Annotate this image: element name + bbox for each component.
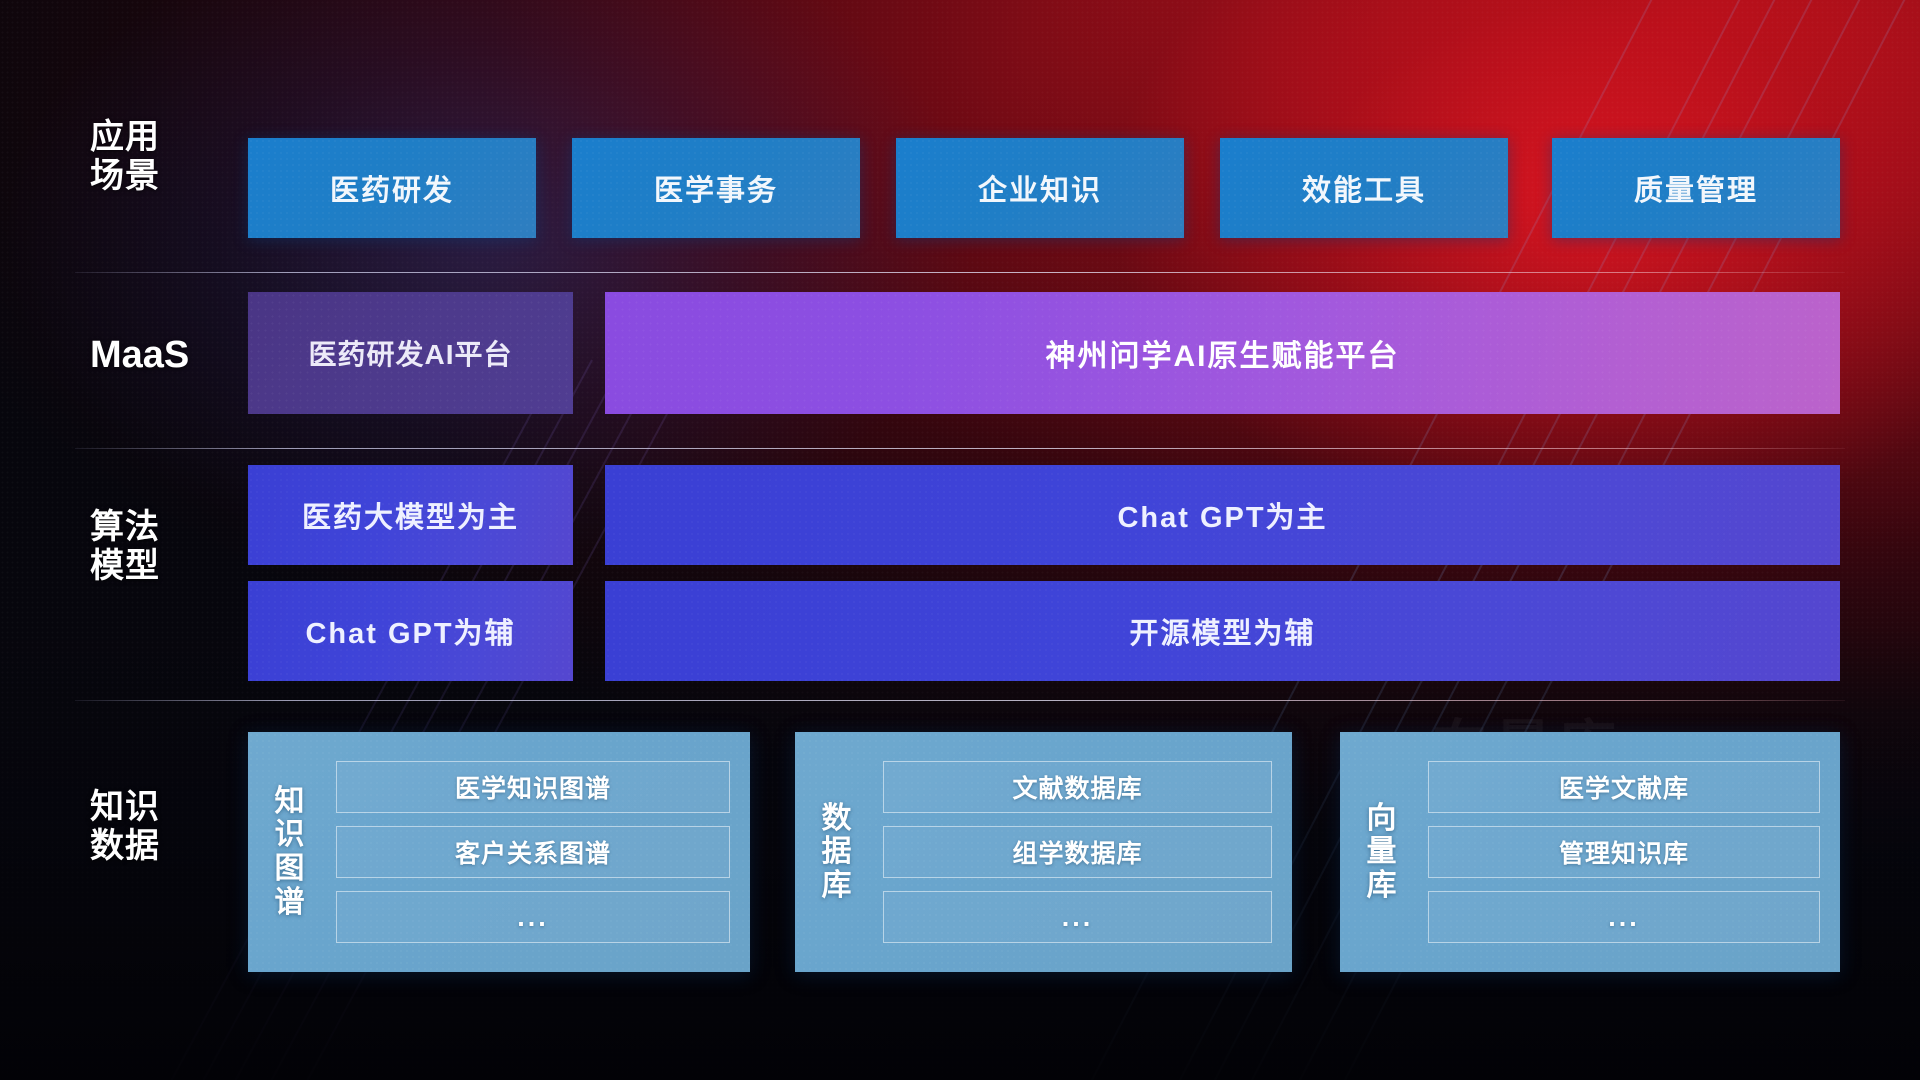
app-scenario-box-4[interactable]: 效能工具 bbox=[1220, 138, 1508, 238]
knowledge-item-2-3[interactable]: ... bbox=[883, 891, 1272, 943]
row-label-algorithm-models: 算法 模型 bbox=[90, 508, 240, 587]
app-scenario-box-5[interactable]: 质量管理 bbox=[1552, 138, 1840, 238]
divider-3 bbox=[75, 700, 1845, 701]
row-label-maas-text: MaaS bbox=[90, 333, 240, 377]
algo-model-box-left-secondary[interactable]: Chat GPT为辅 bbox=[248, 581, 573, 681]
knowledge-panel-database[interactable]: 数据库 文献数据库 组学数据库 ... bbox=[795, 732, 1292, 972]
knowledge-panel-knowledge-graph[interactable]: 知识图谱 医学知识图谱 客户关系图谱 ... bbox=[248, 732, 750, 972]
knowledge-item-1-2[interactable]: 客户关系图谱 bbox=[336, 826, 730, 878]
knowledge-item-list-3: 医学文献库 管理知识库 ... bbox=[1410, 761, 1826, 943]
app-scenario-label-2: 医学事务 bbox=[654, 167, 778, 209]
maas-platform-box-left[interactable]: 医药研发AI平台 bbox=[248, 292, 573, 414]
knowledge-panel-vertical-label-2: 数据库 bbox=[809, 802, 865, 903]
algo-model-label-3: Chat GPT为辅 bbox=[305, 610, 515, 652]
row-label-line-2: 场景 bbox=[90, 157, 240, 196]
row-label-line-1: 算法 bbox=[90, 508, 240, 547]
knowledge-item-list-2: 文献数据库 组学数据库 ... bbox=[865, 761, 1278, 943]
app-scenario-label-3: 企业知识 bbox=[978, 167, 1102, 209]
knowledge-panel-vector-store[interactable]: 向量库 医学文献库 管理知识库 ... bbox=[1340, 732, 1840, 972]
knowledge-item-1-1[interactable]: 医学知识图谱 bbox=[336, 761, 730, 813]
row-label-knowledge-data: 知识 数据 bbox=[90, 788, 240, 867]
knowledge-item-3-3[interactable]: ... bbox=[1428, 891, 1820, 943]
algo-model-box-left-primary[interactable]: 医药大模型为主 bbox=[248, 465, 573, 565]
app-scenario-box-1[interactable]: 医药研发 bbox=[248, 138, 536, 238]
app-scenario-box-3[interactable]: 企业知识 bbox=[896, 138, 1184, 238]
divider-2 bbox=[75, 448, 1845, 449]
row-label-maas: MaaS bbox=[90, 333, 240, 377]
app-scenario-label-1: 医药研发 bbox=[330, 167, 454, 209]
architecture-diagram: 向量库 应用 场景 医药研发 医学事务 企业知识 效能工具 质量管理 bbox=[0, 0, 1920, 1080]
app-scenario-label-5: 质量管理 bbox=[1634, 167, 1758, 209]
row-label-line-1: 应用 bbox=[90, 118, 240, 157]
row-label-application-scenarios: 应用 场景 bbox=[90, 118, 240, 197]
knowledge-item-list-1: 医学知识图谱 客户关系图谱 ... bbox=[318, 761, 736, 943]
knowledge-panel-vertical-label-3: 向量库 bbox=[1354, 802, 1410, 903]
algo-model-label-1: 医药大模型为主 bbox=[302, 494, 519, 536]
divider-1 bbox=[75, 272, 1845, 273]
knowledge-item-2-1[interactable]: 文献数据库 bbox=[883, 761, 1272, 813]
knowledge-item-3-1[interactable]: 医学文献库 bbox=[1428, 761, 1820, 813]
knowledge-panel-vertical-label-1: 知识图谱 bbox=[262, 785, 318, 919]
knowledge-item-3-2[interactable]: 管理知识库 bbox=[1428, 826, 1820, 878]
maas-right-label: 神州问学AI原生赋能平台 bbox=[1046, 331, 1400, 375]
algo-model-box-right-secondary[interactable]: 开源模型为辅 bbox=[605, 581, 1840, 681]
app-scenario-box-2[interactable]: 医学事务 bbox=[572, 138, 860, 238]
knowledge-item-2-2[interactable]: 组学数据库 bbox=[883, 826, 1272, 878]
algo-model-label-2: Chat GPT为主 bbox=[1117, 494, 1327, 536]
maas-left-label: 医药研发AI平台 bbox=[308, 333, 512, 373]
knowledge-item-1-3[interactable]: ... bbox=[336, 891, 730, 943]
row-label-line-2: 模型 bbox=[90, 547, 240, 586]
app-scenario-label-4: 效能工具 bbox=[1302, 167, 1426, 209]
row-label-line-2: 数据 bbox=[90, 827, 240, 866]
algo-model-label-4: 开源模型为辅 bbox=[1129, 610, 1315, 652]
row-label-line-1: 知识 bbox=[90, 788, 240, 827]
maas-platform-box-right[interactable]: 神州问学AI原生赋能平台 bbox=[605, 292, 1840, 414]
algo-model-box-right-primary[interactable]: Chat GPT为主 bbox=[605, 465, 1840, 565]
